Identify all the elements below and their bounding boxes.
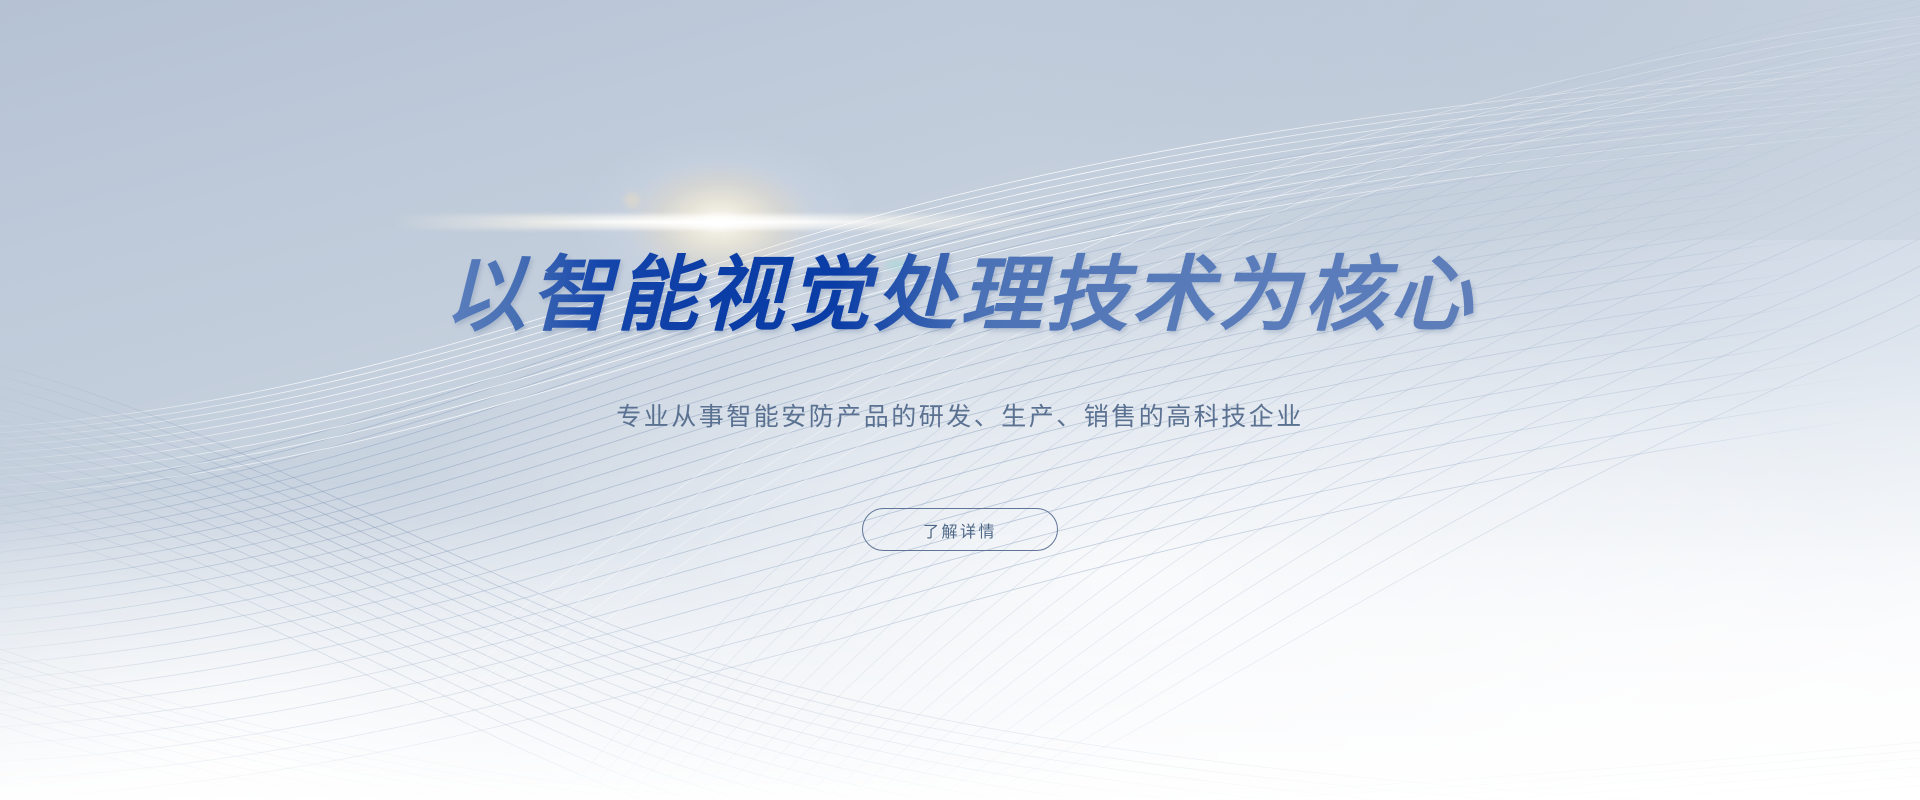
hero-content: 以智能视觉处理技术为核心 专业从事智能安防产品的研发、生产、销售的高科技企业 了… [0,0,1920,800]
learn-more-button[interactable]: 了解详情 [862,508,1058,551]
page-title: 以智能视觉处理技术为核心 [444,248,1476,344]
hero-banner: 以智能视觉处理技术为核心 专业从事智能安防产品的研发、生产、销售的高科技企业 了… [0,0,1920,800]
hero-subtitle: 专业从事智能安防产品的研发、生产、销售的高科技企业 [616,400,1304,434]
